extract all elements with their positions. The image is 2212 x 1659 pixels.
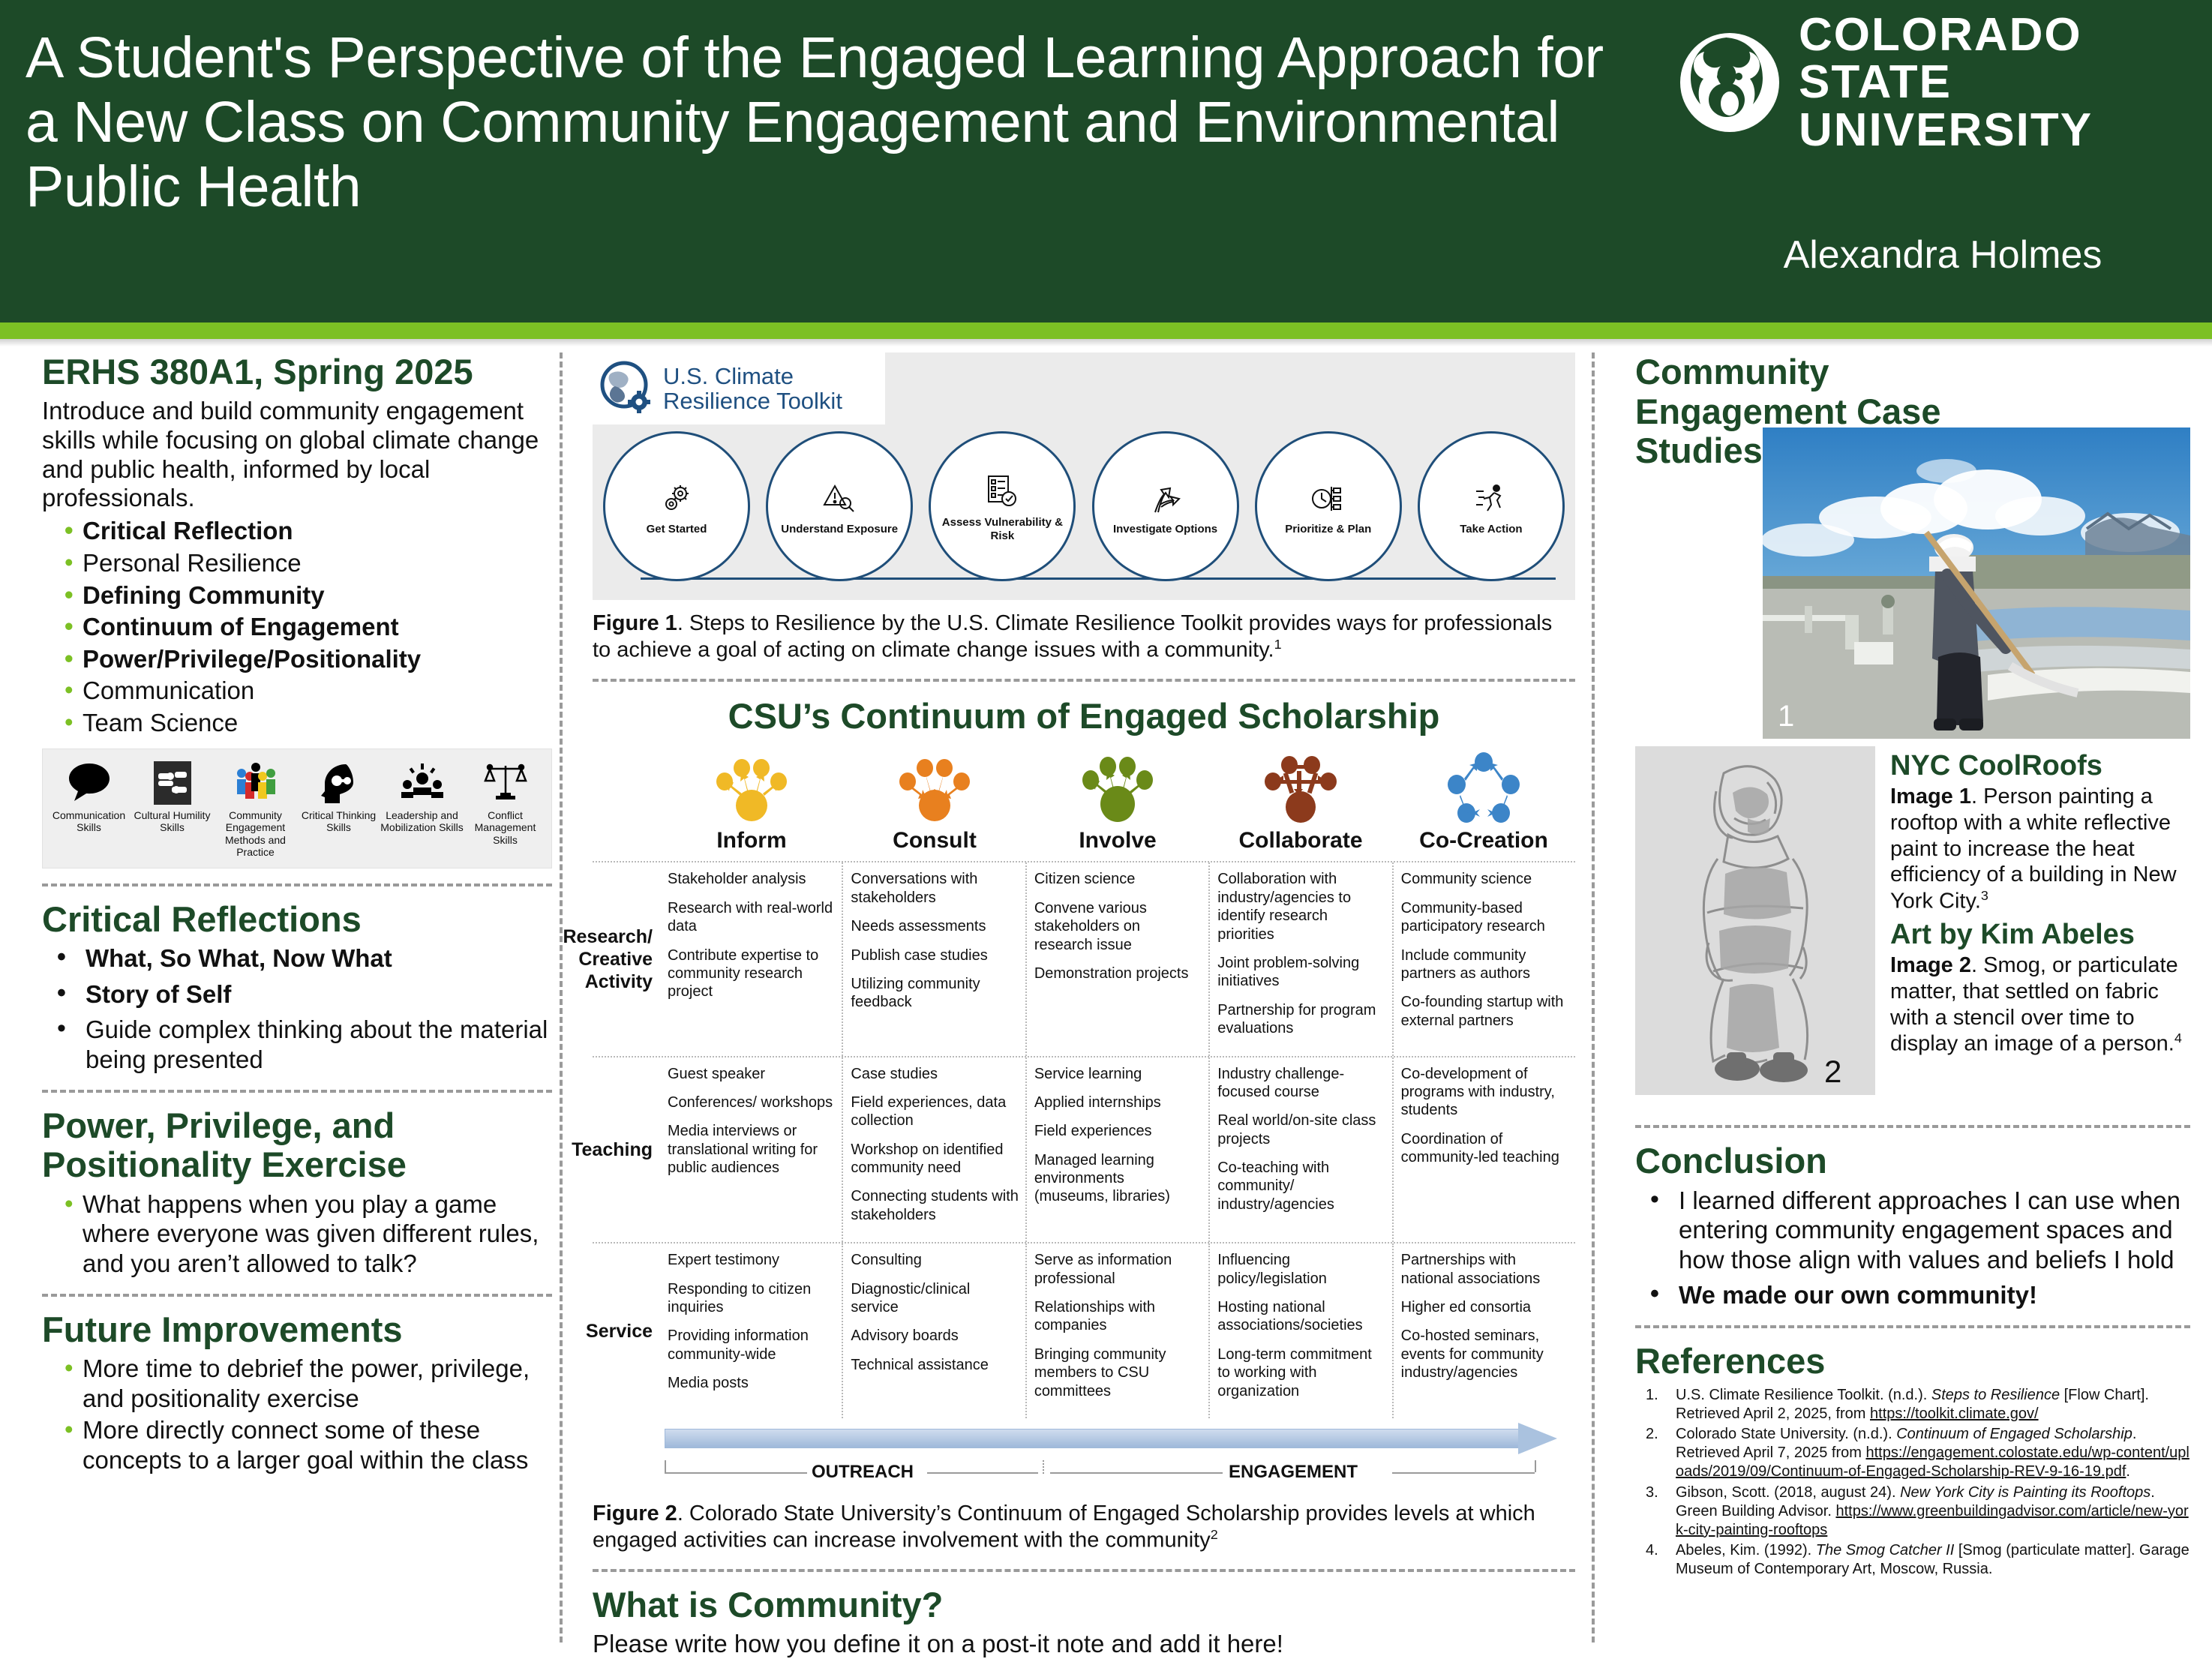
case-study-2: Art by Kim Abeles Image 2. Smog, or part… bbox=[1890, 919, 2190, 1057]
cell-item: Field experiences bbox=[1034, 1122, 1202, 1140]
what-is-community-prompt: Please write how you define it on a post… bbox=[593, 1630, 1575, 1659]
continuum-col-cocreation: Co-Creation bbox=[1392, 823, 1575, 861]
continuum-icon-cell bbox=[1026, 751, 1209, 823]
warning-magnifier-icon bbox=[823, 476, 856, 515]
skill-item: Communication Skills bbox=[47, 760, 131, 862]
continuum-icon-cell bbox=[660, 751, 843, 823]
skill-item: Critical Thinking Skills bbox=[297, 760, 380, 862]
logo-line-1: U.S. Climate bbox=[663, 364, 842, 388]
continuum-axis-labels: OUTREACH ENGAGEMENT bbox=[665, 1456, 1557, 1490]
ring-nodes-icon bbox=[1447, 751, 1520, 823]
cell-item: Media interviews or translational writin… bbox=[668, 1122, 836, 1177]
row-label-teaching: Teaching bbox=[593, 1057, 660, 1243]
axis-label-outreach: OUTREACH bbox=[812, 1462, 914, 1483]
figure1-caption-text: . Steps to Resilience by the U.S. Climat… bbox=[593, 611, 1552, 662]
table-cell: Guest speaker Conferences/ workshops Med… bbox=[660, 1057, 842, 1243]
section-divider bbox=[593, 1569, 1575, 1572]
branching-arrows-icon bbox=[1149, 476, 1182, 515]
step-prioritize-plan[interactable]: Prioritize & Plan bbox=[1255, 431, 1402, 581]
table-cell: Collaboration with industry/agencies to … bbox=[1208, 862, 1391, 1055]
step-investigate-options[interactable]: Investigate Options bbox=[1092, 431, 1239, 581]
skill-item: Cultural Humility Skills bbox=[131, 760, 214, 862]
cell-item: Research with real-world data bbox=[668, 899, 836, 936]
case-1-caption-ref: 3 bbox=[1981, 888, 1988, 903]
section-divider bbox=[1635, 1125, 2190, 1128]
steps-connector-line bbox=[641, 577, 1556, 580]
arrow-head-icon bbox=[1518, 1423, 1557, 1454]
ref-text-a: Gibson, Scott. (2018, august 24). bbox=[1676, 1484, 1900, 1501]
critical-reflections-list: What, So What, Now What Story of Self Gu… bbox=[53, 943, 552, 1074]
continuum-icon-cell bbox=[1209, 751, 1392, 823]
climate-toolkit-logo-text: U.S. Climate Resilience Toolkit bbox=[663, 364, 842, 414]
continuum-col-involve: Involve bbox=[1026, 823, 1209, 861]
figure2-caption-label: Figure 2 bbox=[593, 1501, 677, 1525]
smog-art-image: 2 bbox=[1635, 746, 1875, 1095]
row-cells: Expert testimony Responding to citizen i… bbox=[660, 1243, 1575, 1418]
ref-title: Continuum of Engaged Scholarship bbox=[1896, 1426, 2132, 1442]
cell-item: Field experiences, data collection bbox=[851, 1093, 1019, 1130]
conclusion-list: I learned different approaches I can use… bbox=[1646, 1186, 2190, 1310]
figure2: CSU’s Continuum of Engaged Scholarship bbox=[593, 695, 1575, 1554]
cell-item: Needs assessments bbox=[851, 917, 1019, 935]
table-cell: Stakeholder analysis Research with real-… bbox=[660, 862, 842, 1055]
csu-wordmark-line2: UNIVERSITY bbox=[1799, 106, 2183, 154]
climate-toolkit-logo: U.S. Climate Resilience Toolkit bbox=[593, 352, 885, 424]
page-title: A Student's Perspective of the Engaged L… bbox=[26, 25, 1623, 220]
section-divider bbox=[42, 1294, 552, 1297]
image-1-number: 1 bbox=[1778, 700, 1794, 733]
cell-item: Contribute expertise to community resear… bbox=[668, 946, 836, 1001]
cell-item: Guest speaker bbox=[668, 1065, 836, 1083]
future-improvements-heading: Future Improvements bbox=[42, 1310, 552, 1350]
list-item: We made our own community! bbox=[1646, 1280, 2190, 1310]
step-label: Prioritize & Plan bbox=[1277, 523, 1379, 536]
course-topics-list: Critical Reflection Personal Resilience … bbox=[65, 516, 552, 737]
figure1-caption-label: Figure 1 bbox=[593, 611, 677, 635]
table-cell: Service learning Applied internships Fie… bbox=[1025, 1057, 1208, 1243]
radiating-nodes-icon bbox=[715, 751, 788, 823]
cell-item: Consulting bbox=[851, 1251, 1019, 1269]
cell-item: Media posts bbox=[668, 1374, 836, 1392]
cell-item: Publish case studies bbox=[851, 946, 1019, 964]
ref-title: The Smog Catcher II bbox=[1816, 1542, 1955, 1558]
left-column: ERHS 380A1, Spring 2025 Introduce and bu… bbox=[42, 352, 552, 1477]
cell-item: Serve as information professional bbox=[1034, 1251, 1202, 1288]
cell-item: Include community partners as authors bbox=[1401, 946, 1569, 983]
cell-item: Case studies bbox=[851, 1065, 1019, 1083]
continuum-header-row: Inform Consult Involve Collaborate Co-Cr… bbox=[660, 823, 1575, 861]
converging-nodes-icon bbox=[898, 751, 971, 823]
step-label: Take Action bbox=[1452, 523, 1529, 536]
list-item: More time to debrief the power, privileg… bbox=[65, 1354, 552, 1413]
rooftop-photo: 1 bbox=[1763, 427, 2190, 739]
header-shadow bbox=[0, 339, 2212, 346]
cell-item: Diagnostic/clinical service bbox=[851, 1280, 1019, 1317]
case-2-caption-ref: 4 bbox=[2174, 1030, 2182, 1045]
reference-number: 4. bbox=[1635, 1541, 1676, 1579]
figure1-caption-ref: 1 bbox=[1274, 637, 1282, 652]
cell-item: Long-term commitment to working with org… bbox=[1217, 1345, 1385, 1400]
skill-label: Leadership and Mobilization Skills bbox=[380, 809, 464, 834]
step-label: Assess Vulnerability & Risk bbox=[931, 516, 1073, 544]
gears-icon bbox=[660, 476, 693, 515]
cell-item: Applied internships bbox=[1034, 1093, 1202, 1111]
cell-item: Influencing policy/legislation bbox=[1217, 1251, 1385, 1288]
clock-list-icon bbox=[1311, 476, 1346, 515]
column-divider-left bbox=[560, 352, 563, 1642]
step-assess-vulnerability[interactable]: Assess Vulnerability & Risk bbox=[929, 431, 1076, 581]
list-item: Guide complex thinking about the materia… bbox=[53, 1015, 552, 1074]
cell-item: Higher ed consortia bbox=[1401, 1298, 1569, 1316]
axis-label-engagement: ENGAGEMENT bbox=[1229, 1462, 1358, 1483]
head-gears-icon bbox=[317, 760, 361, 806]
running-person-icon bbox=[1475, 476, 1508, 515]
step-label: Investigate Options bbox=[1106, 523, 1225, 536]
csu-logo: COLORADO STATE UNIVERSITY bbox=[1680, 30, 2183, 135]
cell-item: Advisory boards bbox=[851, 1327, 1019, 1345]
cell-item: Conversations with stakeholders bbox=[851, 870, 1019, 907]
case-1-caption: Image 1. Person painting a rooftop with … bbox=[1890, 784, 2190, 915]
cell-item: Joint problem-solving initiatives bbox=[1217, 954, 1385, 991]
case-2-heading: Art by Kim Abeles bbox=[1890, 919, 2190, 951]
table-cell: Partnerships with national associations … bbox=[1392, 1243, 1575, 1418]
cell-item: Co-founding startup with external partne… bbox=[1401, 993, 1569, 1030]
cell-item: Co-teaching with community/ industry/age… bbox=[1217, 1159, 1385, 1213]
cell-item: Utilizing community feedback bbox=[851, 975, 1019, 1012]
skill-label: Community Engagement Methods and Practic… bbox=[214, 809, 297, 859]
continuum-icon-cell bbox=[843, 751, 1026, 823]
skills-strip: Communication Skills Cultural Humility S… bbox=[42, 748, 552, 868]
scales-icon bbox=[484, 760, 527, 806]
ref-title: Steps to Resilience bbox=[1931, 1387, 2060, 1403]
cell-item: Conferences/ workshops bbox=[668, 1093, 836, 1111]
case-1-caption-label: Image 1 bbox=[1890, 784, 1971, 808]
future-improvements-list: More time to debrief the power, privileg… bbox=[65, 1354, 552, 1474]
cell-item: Connecting students with stakeholders bbox=[851, 1187, 1019, 1224]
cell-item: Industry challenge-focused course bbox=[1217, 1065, 1385, 1102]
course-heading: ERHS 380A1, Spring 2025 bbox=[42, 352, 552, 392]
cell-item: Partnerships with national associations bbox=[1401, 1251, 1569, 1288]
table-cell: Conversations with stakeholders Needs as… bbox=[842, 862, 1025, 1055]
table-cell: Expert testimony Responding to citizen i… bbox=[660, 1243, 842, 1418]
references-heading: References bbox=[1635, 1342, 2190, 1381]
cell-item: Demonstration projects bbox=[1034, 964, 1202, 982]
globe-gear-icon bbox=[597, 359, 656, 418]
reference-text: Gibson, Scott. (2018, august 24). New Yo… bbox=[1676, 1483, 2190, 1540]
case-2-caption: Image 2. Smog, or particulate matter, th… bbox=[1890, 952, 2190, 1057]
middle-column: U.S. Climate Resilience Toolkit bbox=[593, 352, 1575, 1659]
list-item: What, So What, Now What bbox=[53, 943, 552, 973]
csu-wordmark: COLORADO STATE UNIVERSITY bbox=[1799, 11, 2183, 154]
course-description: Introduce and build community engagement… bbox=[42, 397, 552, 514]
section-divider bbox=[1635, 1325, 2190, 1328]
table-cell: Citizen science Convene various stakehol… bbox=[1025, 862, 1208, 1055]
critical-reflections-heading: Critical Reflections bbox=[42, 900, 552, 940]
continuum-icon-row bbox=[660, 742, 1575, 823]
power-exercise-heading: Power, Privilege, and Positionality Exer… bbox=[42, 1106, 552, 1185]
reference-text: Colorado State University. (n.d.). Conti… bbox=[1676, 1425, 2190, 1482]
hands-square-icon bbox=[154, 760, 191, 806]
continuum-icon-cell bbox=[1392, 751, 1575, 823]
table-cell: Co-development of programs with industry… bbox=[1392, 1057, 1575, 1243]
leadership-group-icon bbox=[400, 760, 445, 806]
image-2-number: 2 bbox=[1824, 1054, 1841, 1089]
table-cell: Consulting Diagnostic/clinical service A… bbox=[842, 1243, 1025, 1418]
table-cell: Case studies Field experiences, data col… bbox=[842, 1057, 1025, 1243]
header-accent-bar bbox=[0, 322, 2212, 339]
skill-item: Leadership and Mobilization Skills bbox=[380, 760, 464, 862]
reference-number: 2. bbox=[1635, 1425, 1676, 1482]
cell-item: Real world/on-site class projects bbox=[1217, 1111, 1385, 1148]
table-row: Service Expert testimony Responding to c… bbox=[593, 1242, 1575, 1418]
row-cells: Guest speaker Conferences/ workshops Med… bbox=[660, 1057, 1575, 1243]
step-label: Get Started bbox=[639, 523, 715, 536]
people-circle-icon bbox=[233, 760, 279, 806]
references-list: 1. U.S. Climate Resilience Toolkit. (n.d… bbox=[1635, 1386, 2190, 1579]
reference-item: 4. Abeles, Kim. (1992). The Smog Catcher… bbox=[1635, 1541, 2190, 1579]
list-item: Critical Reflection bbox=[65, 516, 552, 546]
row-label-service: Service bbox=[593, 1243, 660, 1418]
ref-text-a: Abeles, Kim. (1992). bbox=[1676, 1542, 1816, 1558]
table-cell: Influencing policy/legislation Hosting n… bbox=[1208, 1243, 1391, 1418]
list-item: Story of Self bbox=[53, 979, 552, 1009]
continuum-title: CSU’s Continuum of Engaged Scholarship bbox=[593, 695, 1575, 736]
list-item: Communication bbox=[65, 676, 552, 706]
reference-item: 1. U.S. Climate Resilience Toolkit. (n.d… bbox=[1635, 1386, 2190, 1423]
table-cell: Community science Community-based partic… bbox=[1392, 862, 1575, 1055]
step-get-started[interactable]: Get Started bbox=[603, 431, 750, 581]
cell-item: Relationships with companies bbox=[1034, 1298, 1202, 1335]
poster-root: A Student's Perspective of the Engaged L… bbox=[0, 0, 2212, 1659]
power-exercise-list: What happens when you play a game where … bbox=[65, 1189, 552, 1279]
step-understand-exposure[interactable]: Understand Exposure bbox=[766, 431, 913, 581]
conclusion-heading: Conclusion bbox=[1635, 1141, 2190, 1181]
case-1-heading: NYC CoolRoofs bbox=[1890, 750, 2190, 782]
row-cells: Stakeholder analysis Research with real-… bbox=[660, 862, 1575, 1055]
cell-item: Co-hosted seminars, events for community… bbox=[1401, 1327, 1569, 1381]
list-item: Continuum of Engagement bbox=[65, 612, 552, 642]
ref-tail: . bbox=[2126, 1463, 2130, 1480]
figure2-caption-text: . Colorado State University’s Continuum … bbox=[593, 1501, 1535, 1552]
climate-toolkit-panel: U.S. Climate Resilience Toolkit bbox=[593, 352, 1575, 600]
case-2-caption-label: Image 2 bbox=[1890, 953, 1971, 977]
list-item: What happens when you play a game where … bbox=[65, 1189, 552, 1279]
row-label-research: Research/ Creative Activity bbox=[593, 862, 660, 1055]
cell-item: Community science bbox=[1401, 870, 1569, 888]
author-name: Alexandra Holmes bbox=[1680, 232, 2205, 277]
cell-item: Partnership for program evaluations bbox=[1217, 1001, 1385, 1038]
column-divider-right bbox=[1592, 352, 1595, 1642]
table-cell: Serve as information professional Relati… bbox=[1025, 1243, 1208, 1418]
figure2-caption-ref: 2 bbox=[1211, 1527, 1218, 1542]
list-item: Defining Community bbox=[65, 580, 552, 610]
skill-label: Communication Skills bbox=[47, 809, 131, 834]
cell-item: Stakeholder analysis bbox=[668, 870, 836, 888]
table-cell: Industry challenge-focused course Real w… bbox=[1208, 1057, 1391, 1243]
reference-number: 1. bbox=[1635, 1386, 1676, 1423]
reference-number: 3. bbox=[1635, 1483, 1676, 1540]
cell-item: Hosting national associations/societies bbox=[1217, 1298, 1385, 1335]
figure2-caption: Figure 2. Colorado State University’s Co… bbox=[593, 1501, 1575, 1554]
cell-item: Responding to citizen inquiries bbox=[668, 1280, 836, 1317]
arrow-shaft bbox=[665, 1429, 1520, 1448]
ref-text-a: Colorado State University. (n.d.). bbox=[1676, 1426, 1896, 1442]
cell-item: Community-based participatory research bbox=[1401, 899, 1569, 936]
step-label: Understand Exposure bbox=[773, 523, 905, 536]
ref-text-a: U.S. Climate Resilience Toolkit. (n.d.). bbox=[1676, 1387, 1931, 1403]
checklist-icon bbox=[986, 469, 1019, 508]
section-divider bbox=[42, 1090, 552, 1093]
speech-bubble-icon bbox=[68, 760, 111, 806]
cell-item: Technical assistance bbox=[851, 1356, 1019, 1374]
continuum-col-collaborate: Collaborate bbox=[1209, 823, 1392, 861]
cell-item: Service learning bbox=[1034, 1065, 1202, 1083]
cell-item: Collaboration with industry/agencies to … bbox=[1217, 870, 1385, 943]
reference-text: U.S. Climate Resilience Toolkit. (n.d.).… bbox=[1676, 1386, 2190, 1423]
cell-item: Workshop on identified community need bbox=[851, 1141, 1019, 1177]
radiating-nodes-icon bbox=[1081, 751, 1154, 823]
figure1: U.S. Climate Resilience Toolkit bbox=[593, 352, 1575, 664]
cell-item: Coordination of community-led teaching bbox=[1401, 1130, 1569, 1167]
reference-link[interactable]: https://toolkit.climate.gov/ bbox=[1870, 1405, 2039, 1422]
skill-label: Cultural Humility Skills bbox=[131, 809, 214, 834]
reference-item: 3. Gibson, Scott. (2018, august 24). New… bbox=[1635, 1483, 2190, 1540]
list-item: I learned different approaches I can use… bbox=[1646, 1186, 2190, 1275]
cell-item: Providing information community-wide bbox=[668, 1327, 836, 1363]
case-study-1: NYC CoolRoofs Image 1. Person painting a… bbox=[1890, 750, 2190, 915]
figure1-caption: Figure 1. Steps to Resilience by the U.S… bbox=[593, 610, 1575, 664]
ref-title: New York City is Painting its Rooftops bbox=[1900, 1484, 2150, 1501]
continuum-col-consult: Consult bbox=[843, 823, 1026, 861]
list-item: More directly connect some of these conc… bbox=[65, 1415, 552, 1474]
cell-item: Co-development of programs with industry… bbox=[1401, 1065, 1569, 1120]
reference-item: 2. Colorado State University. (n.d.). Co… bbox=[1635, 1425, 2190, 1482]
list-item: Power/Privilege/Positionality bbox=[65, 644, 552, 674]
table-row: Teaching Guest speaker Conferences/ work… bbox=[593, 1056, 1575, 1243]
table-row: Research/ Creative Activity Stakeholder … bbox=[593, 861, 1575, 1055]
network-nodes-icon bbox=[1264, 751, 1337, 823]
cell-item: Expert testimony bbox=[668, 1251, 836, 1269]
csu-wordmark-line1: COLORADO STATE bbox=[1799, 11, 2183, 106]
reference-text: Abeles, Kim. (1992). The Smog Catcher II… bbox=[1676, 1541, 2190, 1579]
list-item: Personal Resilience bbox=[65, 548, 552, 578]
list-item: Team Science bbox=[65, 708, 552, 738]
continuum-arrow bbox=[665, 1423, 1557, 1454]
continuum-col-inform: Inform bbox=[660, 823, 843, 861]
what-is-community-heading: What is Community? bbox=[593, 1585, 1575, 1625]
section-divider bbox=[42, 883, 552, 886]
cell-item: Convene various stakeholders on research… bbox=[1034, 899, 1202, 954]
skill-label: Critical Thinking Skills bbox=[297, 809, 380, 834]
steps-to-resilience-row: Get Started Understand Exposure bbox=[603, 427, 1565, 585]
logo-line-2: Resilience Toolkit bbox=[663, 388, 842, 413]
skill-label: Conflict Management Skills bbox=[464, 809, 547, 847]
cell-item: Bringing community members to CSU commit… bbox=[1034, 1345, 1202, 1400]
section-divider bbox=[593, 679, 1575, 682]
cell-item: Managed learning environments (museums, … bbox=[1034, 1151, 1202, 1206]
right-lower-block: Conclusion I learned different approache… bbox=[1635, 1125, 2190, 1581]
step-take-action[interactable]: Take Action bbox=[1418, 431, 1565, 581]
skill-item: Conflict Management Skills bbox=[464, 760, 547, 862]
skill-item: Community Engagement Methods and Practic… bbox=[214, 760, 297, 862]
ram-logo-icon bbox=[1680, 33, 1779, 132]
cell-item: Citizen science bbox=[1034, 870, 1202, 888]
